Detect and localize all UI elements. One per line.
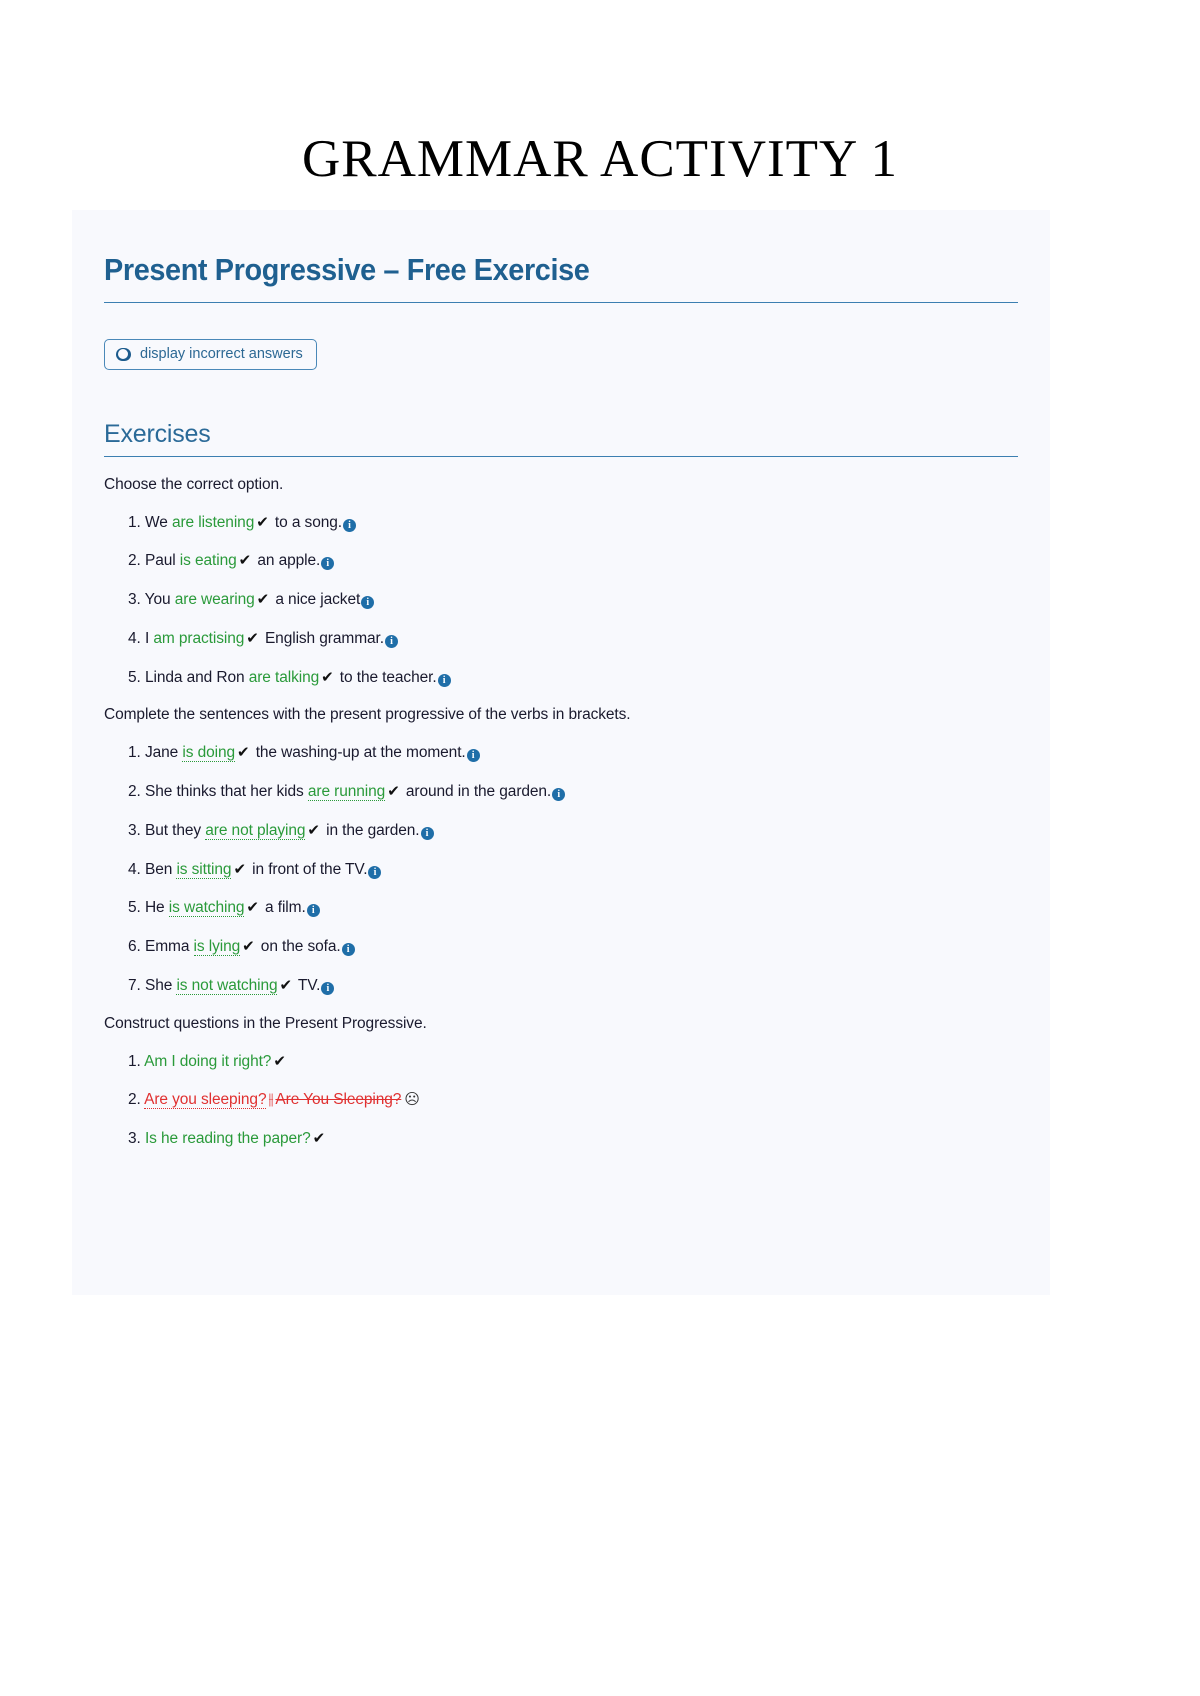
display-incorrect-answers-button[interactable]: display incorrect answers (104, 339, 317, 370)
incorrect-answer: Are you sleeping? (144, 1091, 266, 1109)
answer-text: is lying (194, 938, 241, 956)
sentence-prefix: He (145, 899, 169, 916)
sentence-suffix: a nice jacket (271, 591, 360, 608)
exercise-item: She is not watching✔ TV.i (128, 976, 1018, 996)
sentence-prefix: She (145, 977, 177, 994)
sentence-suffix: on the sofa. (257, 938, 341, 955)
sentence-suffix: a film. (261, 899, 306, 916)
exercise-item: Jane is doing✔ the washing-up at the mom… (128, 743, 1018, 763)
exercise-item: We are listening✔ to a song.i (128, 513, 1018, 533)
info-icon[interactable]: i (467, 749, 480, 762)
exercise-item: I am practising✔ English grammar.i (128, 629, 1018, 649)
answer-text: are not playing (205, 822, 305, 840)
exercise-prompt: Complete the sentences with the present … (104, 706, 1018, 724)
sentence-suffix: TV. (294, 977, 320, 994)
exercise-item: Paul is eating✔ an apple.i (128, 551, 1018, 571)
check-icon: ✔ (255, 591, 271, 608)
sentence-suffix: to the teacher. (336, 669, 437, 686)
check-icon: ✔ (385, 783, 401, 800)
info-icon[interactable]: i (361, 596, 374, 609)
struck-correction: Are You Sleeping? (275, 1091, 401, 1108)
check-icon: ✔ (231, 861, 247, 878)
check-icon: ✔ (305, 822, 321, 839)
exercise-item: Am I doing it right?✔ (128, 1052, 1018, 1072)
title-divider (104, 302, 1018, 303)
info-icon[interactable]: i (438, 674, 451, 687)
exercise-item: Ben is sitting✔ in front of the TV.i (128, 860, 1018, 880)
check-icon: ✔ (319, 669, 335, 686)
sentence-suffix: English grammar. (261, 630, 384, 647)
exercise-item: Are you sleeping?⫲Are You Sleeping?☹ (128, 1090, 1018, 1110)
exercise-list: Jane is doing✔ the washing-up at the mom… (104, 743, 1018, 995)
toggle-switch-icon (116, 348, 131, 361)
exercise-item: Linda and Ron are talking✔ to the teache… (128, 668, 1018, 688)
sentence-suffix: in front of the TV. (248, 861, 368, 878)
exercise-item: Emma is lying✔ on the sofa.i (128, 937, 1018, 957)
exercise-item: She thinks that her kids are running✔ ar… (128, 782, 1018, 802)
exercise-item: He is watching✔ a film.i (128, 898, 1018, 918)
sentence-suffix: to a song. (271, 514, 342, 531)
answer-text: are listening (172, 514, 254, 531)
check-icon: ✔ (244, 630, 260, 647)
info-icon[interactable]: i (368, 866, 381, 879)
sentence-prefix: Ben (145, 861, 177, 878)
sad-face-icon: ☹ (401, 1091, 420, 1108)
exercise-item: Is he reading the paper?✔ (128, 1129, 1018, 1149)
answer-text: Am I doing it right? (144, 1053, 271, 1070)
sentence-prefix: You (145, 591, 175, 608)
info-icon[interactable]: i (552, 788, 565, 801)
sentence-prefix: Paul (145, 552, 180, 569)
sentence-suffix: the washing-up at the moment. (251, 744, 465, 761)
answer-text: is eating (180, 552, 237, 569)
sentence-prefix: We (145, 514, 172, 531)
info-icon[interactable]: i (343, 519, 356, 532)
exercise-item: But they are not playing✔ in the garden.… (128, 821, 1018, 841)
worksheet-title: Present Progressive – Free Exercise (104, 252, 954, 288)
exercises-divider (104, 456, 1018, 457)
exercise-item: You are wearing✔ a nice jacketi (128, 590, 1018, 610)
sentence-prefix: But they (145, 822, 205, 839)
exercise-groups: Choose the correct option.We are listeni… (104, 476, 1018, 1149)
check-icon: ✔ (311, 1130, 327, 1147)
answer-text: are running (308, 783, 385, 801)
info-icon[interactable]: i (342, 943, 355, 956)
toggle-row: display incorrect answers (104, 339, 1018, 370)
info-icon[interactable]: i (321, 557, 334, 570)
check-icon: ✔ (240, 938, 256, 955)
check-icon: ✔ (277, 977, 293, 994)
answer-text: are wearing (175, 591, 255, 608)
sentence-prefix: Jane (145, 744, 182, 761)
exercise-list: Am I doing it right?✔Are you sleeping?⫲A… (104, 1052, 1018, 1149)
exercise-list: We are listening✔ to a song.iPaul is eat… (104, 513, 1018, 688)
answer-text: Is he reading the paper? (145, 1130, 311, 1147)
check-icon: ✔ (235, 744, 251, 761)
sentence-suffix: an apple. (253, 552, 320, 569)
exercise-prompt: Choose the correct option. (104, 476, 1018, 494)
answer-text: are talking (249, 669, 319, 686)
check-icon: ✔ (254, 514, 270, 531)
worksheet-card: Present Progressive – Free Exercise disp… (72, 210, 1050, 1295)
answer-text: am practising (153, 630, 244, 647)
sentence-suffix: in the garden. (322, 822, 420, 839)
sentence-prefix: Linda and Ron (145, 669, 249, 686)
answer-text: is doing (182, 744, 235, 762)
sentence-suffix: around in the garden. (402, 783, 551, 800)
sentence-prefix: Emma (145, 938, 194, 955)
answer-text: is not watching (176, 977, 277, 995)
info-icon[interactable]: i (385, 635, 398, 648)
exercise-prompt: Construct questions in the Present Progr… (104, 1015, 1018, 1033)
answer-text: is watching (169, 899, 245, 917)
check-icon: ✔ (271, 1053, 287, 1070)
info-icon[interactable]: i (321, 982, 334, 995)
answer-text: is sitting (176, 861, 231, 879)
sentence-prefix: She thinks that her kids (145, 783, 308, 800)
info-icon[interactable]: i (421, 827, 434, 840)
exercises-heading: Exercises (104, 420, 1018, 449)
check-icon: ✔ (244, 899, 260, 916)
check-icon: ✔ (237, 552, 253, 569)
page-title: GRAMMAR ACTIVITY 1 (0, 0, 1200, 188)
info-icon[interactable]: i (307, 904, 320, 917)
toggle-label: display incorrect answers (140, 347, 303, 362)
